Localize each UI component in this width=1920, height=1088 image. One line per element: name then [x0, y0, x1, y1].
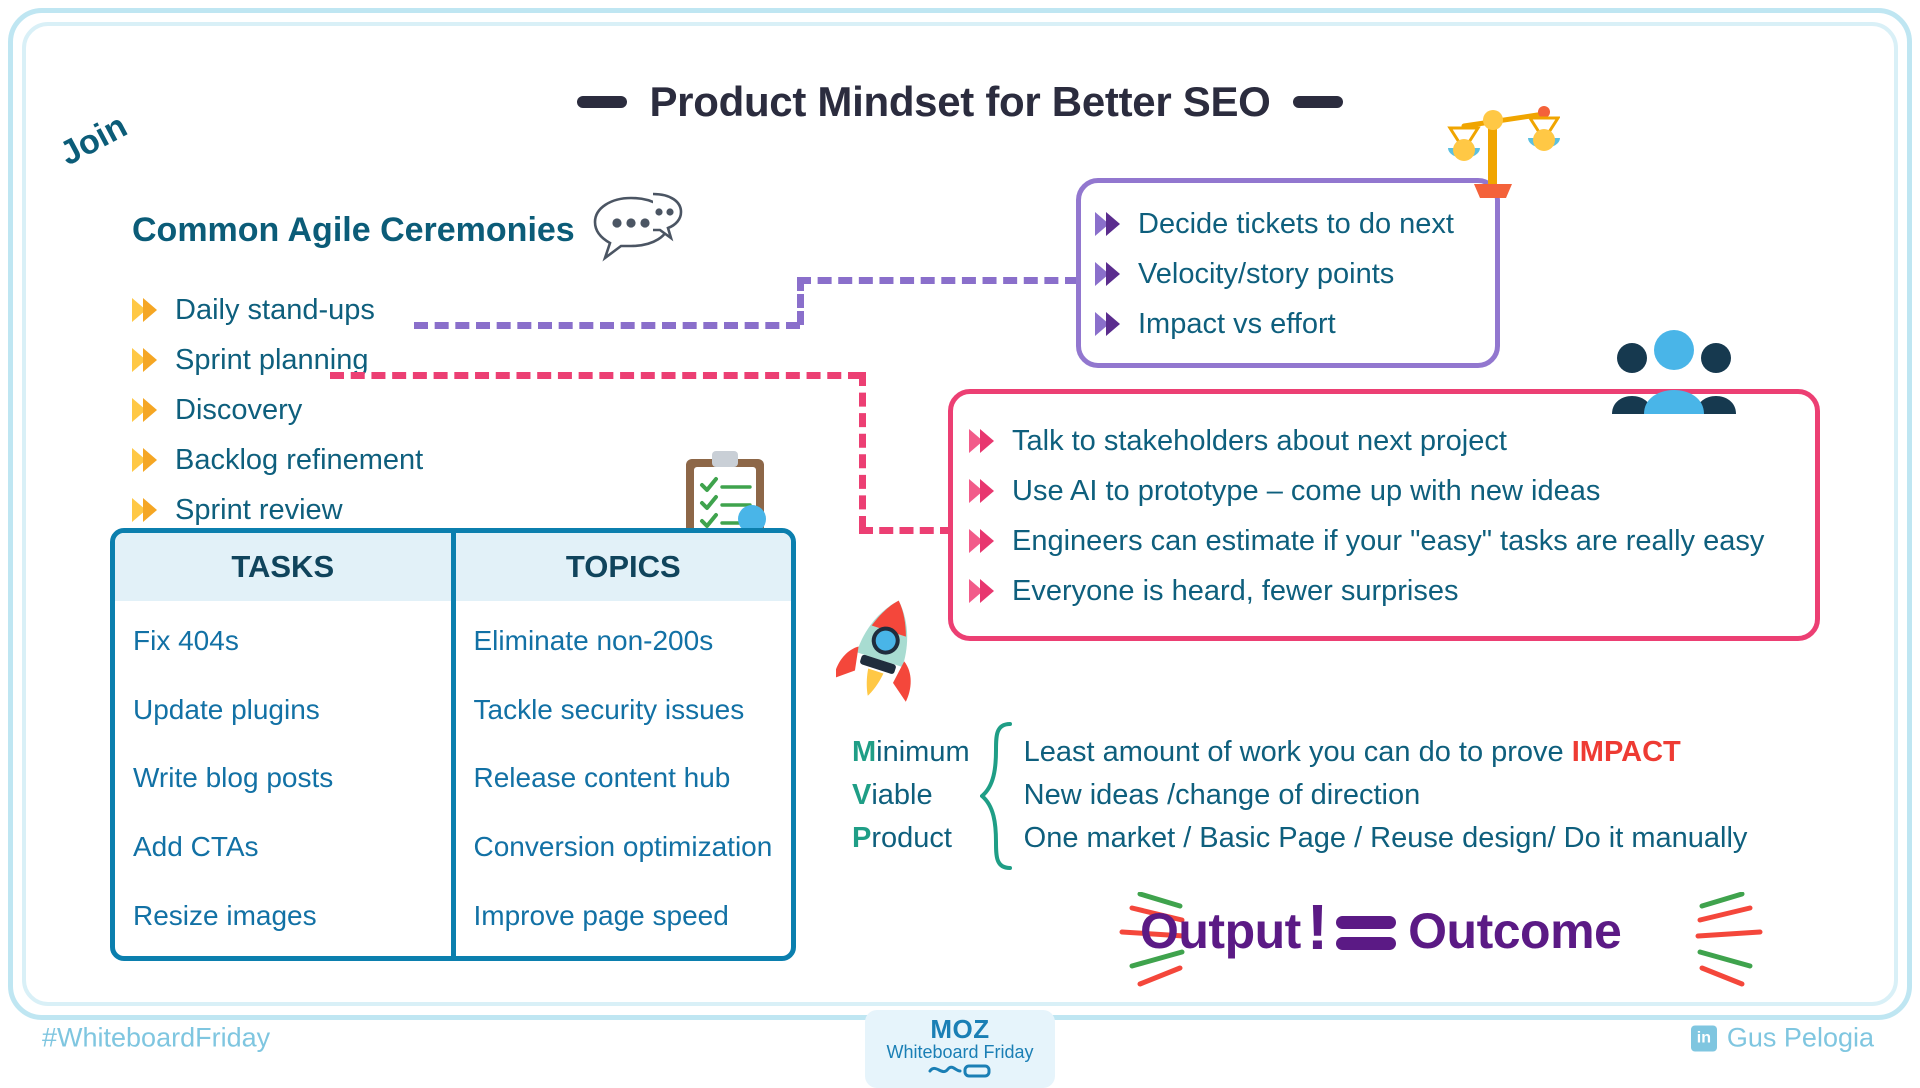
mvp-word-product: Product — [852, 824, 970, 853]
list-item-label: Talk to stakeholders about next project — [1012, 425, 1507, 458]
chevron-icon — [1095, 262, 1125, 286]
chevron-icon — [132, 448, 162, 472]
column-header-topics: TOPICS — [456, 533, 792, 601]
title-dash-left — [577, 96, 627, 108]
list-item[interactable]: Use AI to prototype – come up with new i… — [969, 466, 1797, 516]
table-cell: Update plugins — [115, 694, 451, 726]
list-item-label: Discovery — [175, 394, 302, 427]
list-item-label: Impact vs effort — [1138, 308, 1336, 341]
mvp-words: Minimum Viable Product — [852, 738, 970, 853]
rocket-icon — [836, 592, 928, 717]
table-cell: Improve page speed — [456, 900, 792, 932]
list-item[interactable]: Everyone is heard, fewer surprises — [969, 566, 1797, 616]
table-cell: Release content hub — [456, 762, 792, 794]
list-item-label: Backlog refinement — [175, 444, 423, 477]
table-cell: Conversion optimization — [456, 831, 792, 863]
mvp-description: New ideas /change of direction — [1024, 781, 1748, 810]
scales-of-justice-icon — [1440, 100, 1560, 215]
footer-author[interactable]: in Gus Pelogia — [1691, 1023, 1874, 1054]
people-group-icon — [1610, 330, 1738, 421]
purple-connector-segment — [797, 277, 1079, 284]
chevron-icon — [969, 579, 999, 603]
footer-hashtag: #WhiteboardFriday — [42, 1023, 270, 1054]
mvp-word-minimum: Minimum — [852, 738, 970, 767]
list-item-label: Decide tickets to do next — [1138, 208, 1454, 241]
ceremonies-heading-row: Common Agile Ceremonies — [132, 192, 772, 269]
list-item[interactable]: Engineers can estimate if your "easy" ta… — [969, 516, 1797, 566]
discovery-detail-card: Talk to stakeholders about next project … — [948, 389, 1820, 641]
pink-connector-segment — [330, 372, 862, 379]
mvp-section: Minimum Viable Product Least amount of w… — [852, 720, 1747, 870]
column-header-tasks: TASKS — [115, 533, 456, 601]
page-title: Product Mindset for Better SEO — [649, 78, 1270, 126]
pink-connector-segment — [859, 527, 954, 534]
list-item-label: Engineers can estimate if your "easy" ta… — [1012, 525, 1764, 558]
mvp-word-rest: iable — [871, 779, 932, 811]
mvp-initial: P — [852, 822, 871, 854]
output-label: Output — [1140, 902, 1301, 960]
mvp-word-rest: inimum — [876, 736, 969, 768]
speech-bubbles-icon — [591, 192, 683, 269]
purple-connector-segment — [797, 277, 804, 325]
tasks-topics-table: TASKS TOPICS Fix 404s Update plugins Wri… — [110, 528, 796, 961]
list-item-label: Use AI to prototype – come up with new i… — [1012, 475, 1600, 508]
list-item-label: Daily stand-ups — [175, 294, 375, 327]
mvp-description: One market / Basic Page / Reuse design/ … — [1024, 824, 1748, 853]
chevron-icon — [969, 479, 999, 503]
mvp-description-text: Least amount of work you can do to prove — [1024, 736, 1572, 768]
title-row: Product Mindset for Better SEO — [0, 78, 1920, 126]
impact-emphasis: IMPACT — [1572, 736, 1681, 768]
moz-tagline: Whiteboard Friday — [886, 1043, 1033, 1061]
table-cell: Write blog posts — [115, 762, 451, 794]
ceremonies-heading: Common Agile Ceremonies — [132, 211, 575, 250]
curly-brace-icon — [980, 720, 1014, 870]
chevron-icon — [132, 298, 162, 322]
table-header-row: TASKS TOPICS — [115, 533, 791, 601]
moz-whiteboard-friday-badge[interactable]: MOZ Whiteboard Friday — [865, 1010, 1055, 1088]
list-item[interactable]: Decide tickets to do next — [1095, 199, 1477, 249]
list-item-label: Sprint review — [175, 494, 343, 527]
sprint-planning-detail-card: Decide tickets to do next Velocity/story… — [1076, 178, 1500, 368]
marker-doodle-icon — [927, 1062, 993, 1083]
outcome-label: Outcome — [1408, 902, 1621, 960]
list-item[interactable]: Talk to stakeholders about next project — [969, 416, 1797, 466]
output-not-equal-outcome: Output ! Outcome — [1140, 900, 1621, 962]
purple-connector-segment — [414, 322, 800, 329]
equals-sign-icon — [1336, 916, 1396, 950]
pink-connector-segment — [859, 372, 866, 530]
table-cell: Fix 404s — [115, 625, 451, 657]
table-cell: Add CTAs — [115, 831, 451, 863]
table-cell: Tackle security issues — [456, 694, 792, 726]
author-name: Gus Pelogia — [1727, 1023, 1874, 1054]
mvp-description: Least amount of work you can do to prove… — [1024, 738, 1748, 767]
chevron-icon — [969, 429, 999, 453]
list-item[interactable]: Velocity/story points — [1095, 249, 1477, 299]
exclamation-mark: ! — [1307, 900, 1328, 954]
mvp-word-rest: roduct — [871, 822, 952, 854]
mvp-descriptions: Least amount of work you can do to prove… — [1024, 738, 1748, 853]
sparkle-rays-right-icon — [1694, 892, 1764, 993]
chevron-icon — [132, 398, 162, 422]
list-item-label: Everyone is heard, fewer surprises — [1012, 575, 1458, 608]
table-body: Fix 404s Update plugins Write blog posts… — [115, 601, 791, 956]
linkedin-icon[interactable]: in — [1691, 1025, 1717, 1051]
table-cell: Eliminate non-200s — [456, 625, 792, 657]
mvp-initial: V — [852, 779, 871, 811]
list-item[interactable]: Impact vs effort — [1095, 299, 1477, 349]
chevron-icon — [132, 348, 162, 372]
chevron-icon — [969, 529, 999, 553]
moz-logo: MOZ — [930, 1016, 989, 1042]
topics-column: Eliminate non-200s Tackle security issue… — [456, 601, 792, 956]
list-item[interactable]: Discovery — [132, 385, 772, 435]
list-item-label: Velocity/story points — [1138, 258, 1394, 291]
mvp-word-viable: Viable — [852, 781, 970, 810]
chevron-icon — [132, 498, 162, 522]
tasks-column: Fix 404s Update plugins Write blog posts… — [115, 601, 456, 956]
mvp-initial: M — [852, 736, 876, 768]
chevron-icon — [1095, 212, 1125, 236]
title-dash-right — [1293, 96, 1343, 108]
chevron-icon — [1095, 312, 1125, 336]
table-cell: Resize images — [115, 900, 451, 932]
